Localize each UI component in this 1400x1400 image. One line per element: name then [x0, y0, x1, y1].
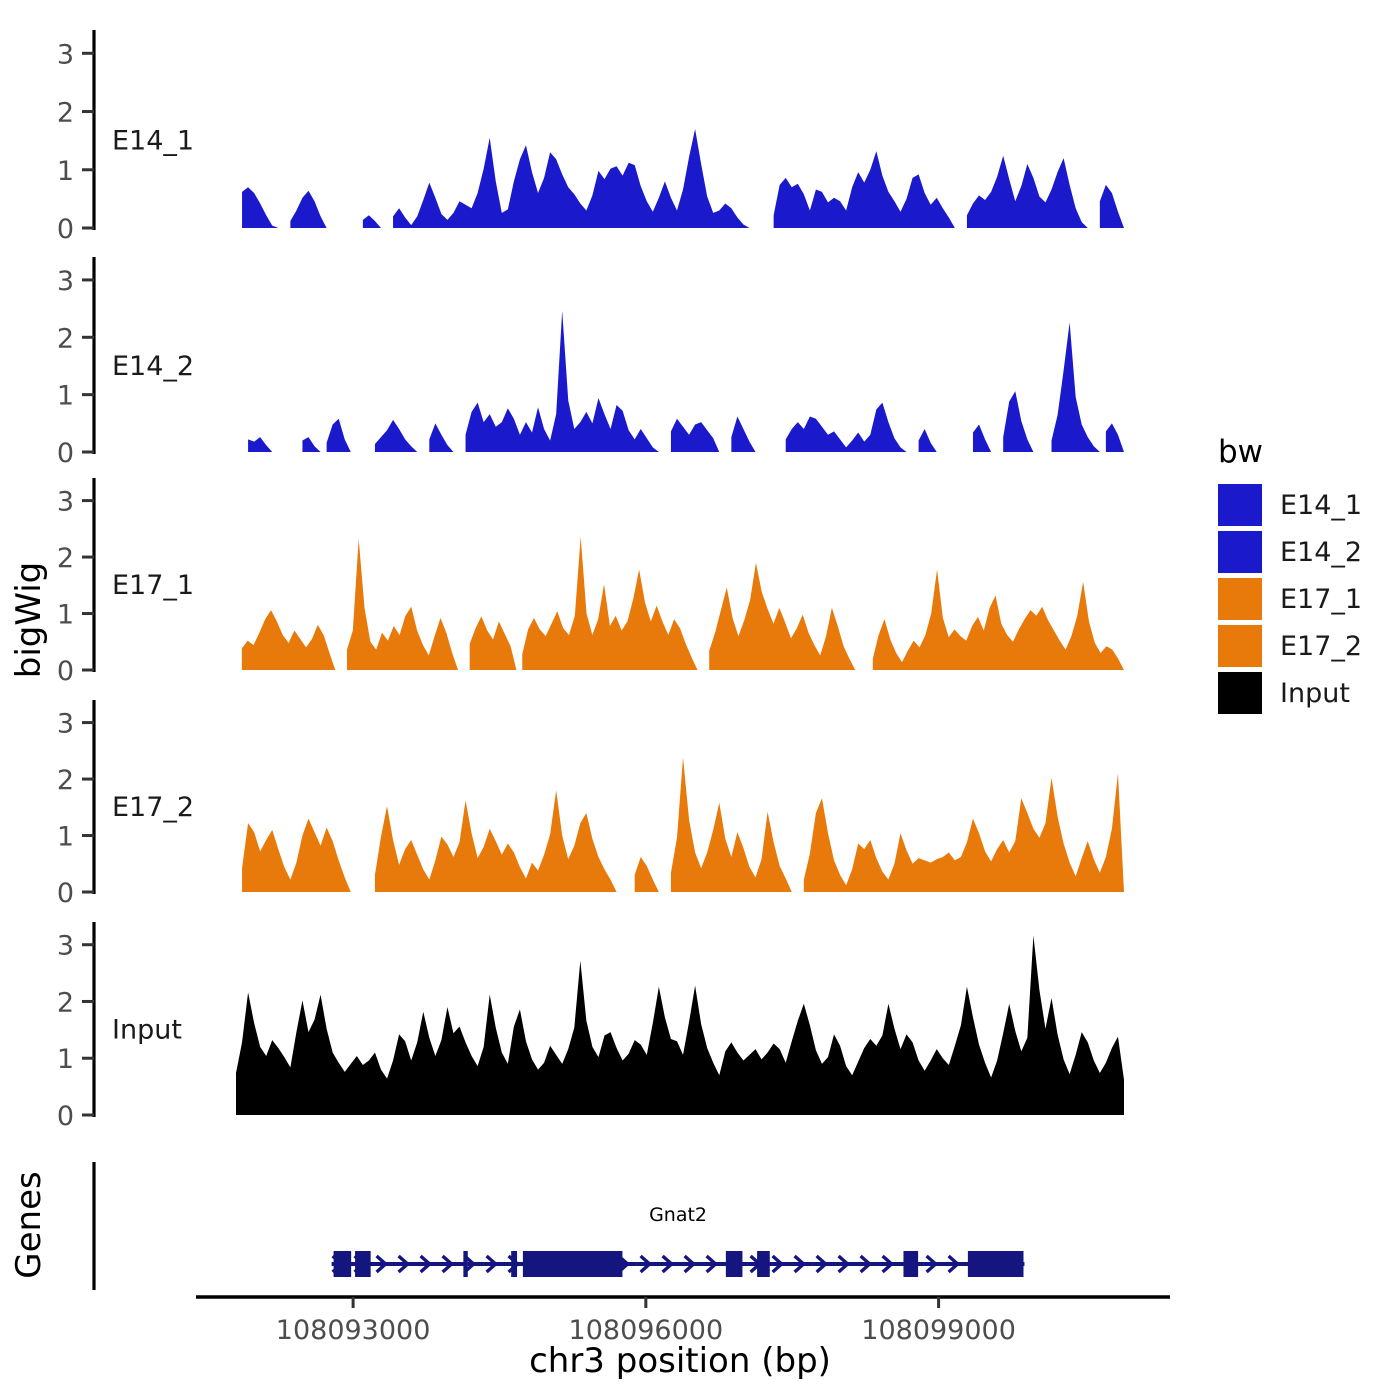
gene-exon-block	[523, 1251, 623, 1277]
y-tick-label: 3	[57, 487, 74, 518]
genes-axis-title: Genes	[9, 1171, 49, 1278]
legend-label-input: Input	[1280, 678, 1350, 709]
y-tick-label: 1	[57, 600, 74, 631]
legend-label-e17_1: E17_1	[1280, 584, 1362, 615]
panel-label-e17_1: E17_1	[112, 570, 194, 601]
y-tick-label: 1	[57, 156, 74, 187]
x-tick-label: 108096000	[569, 1315, 724, 1346]
y-tick-label: 0	[57, 438, 74, 469]
legend-label-e17_2: E17_2	[1280, 631, 1362, 662]
legend-swatch-e14_1[interactable]	[1218, 484, 1262, 526]
y-tick-label: 3	[57, 709, 74, 740]
y-tick-label: 1	[57, 381, 74, 412]
y-tick-label: 3	[57, 266, 74, 297]
y-tick-label: 2	[57, 98, 74, 129]
gene-exon-block	[511, 1251, 517, 1277]
y-tick-label: 2	[57, 765, 74, 796]
y-tick-label: 0	[57, 878, 74, 909]
legend-swatch-e14_2[interactable]	[1218, 531, 1262, 573]
x-tick-label: 108099000	[861, 1315, 1016, 1346]
y-tick-label: 1	[57, 822, 74, 853]
panel-label-e14_2: E14_2	[112, 351, 194, 382]
y-tick-label: 1	[57, 1044, 74, 1075]
y-tick-label: 3	[57, 39, 74, 70]
y-tick-label: 0	[57, 214, 74, 245]
gene-exon-block	[355, 1251, 371, 1277]
figure-root: bigWig Genes chr3 position (bp) 0123E14_…	[0, 0, 1400, 1400]
y-tick-label: 2	[57, 323, 74, 354]
gene-exon-block	[757, 1251, 770, 1277]
y-tick-label: 3	[57, 931, 74, 962]
panel-label-input: Input	[112, 1015, 182, 1046]
y-tick-label: 0	[57, 1101, 74, 1132]
panel-label-e14_1: E14_1	[112, 125, 194, 156]
gene-exon-block	[463, 1251, 467, 1277]
legend-label-e14_1: E14_1	[1280, 490, 1362, 521]
legend-title: bw	[1218, 434, 1263, 470]
y-tick-label: 2	[57, 543, 74, 574]
y-axis-title: bigWig	[9, 562, 49, 679]
legend-label-e14_2: E14_2	[1280, 537, 1362, 568]
y-tick-label: 0	[57, 656, 74, 687]
y-tick-label: 2	[57, 987, 74, 1018]
legend-swatch-e17_2[interactable]	[1218, 625, 1262, 667]
x-axis-title: chr3 position (bp)	[529, 1341, 831, 1381]
legend-swatch-input[interactable]	[1218, 672, 1262, 714]
gene-name-label: Gnat2	[649, 1204, 707, 1226]
gene-exon-block	[968, 1251, 1024, 1277]
legend-swatch-e17_1[interactable]	[1218, 578, 1262, 620]
panel-label-e17_2: E17_2	[112, 792, 194, 823]
gene-exon-block	[334, 1251, 352, 1277]
genome-browser-figure: bigWig Genes chr3 position (bp) 0123E14_…	[0, 0, 1400, 1400]
x-tick-label: 108093000	[276, 1315, 431, 1346]
gene-exon-block	[903, 1251, 918, 1277]
gene-exon-block	[726, 1251, 743, 1277]
